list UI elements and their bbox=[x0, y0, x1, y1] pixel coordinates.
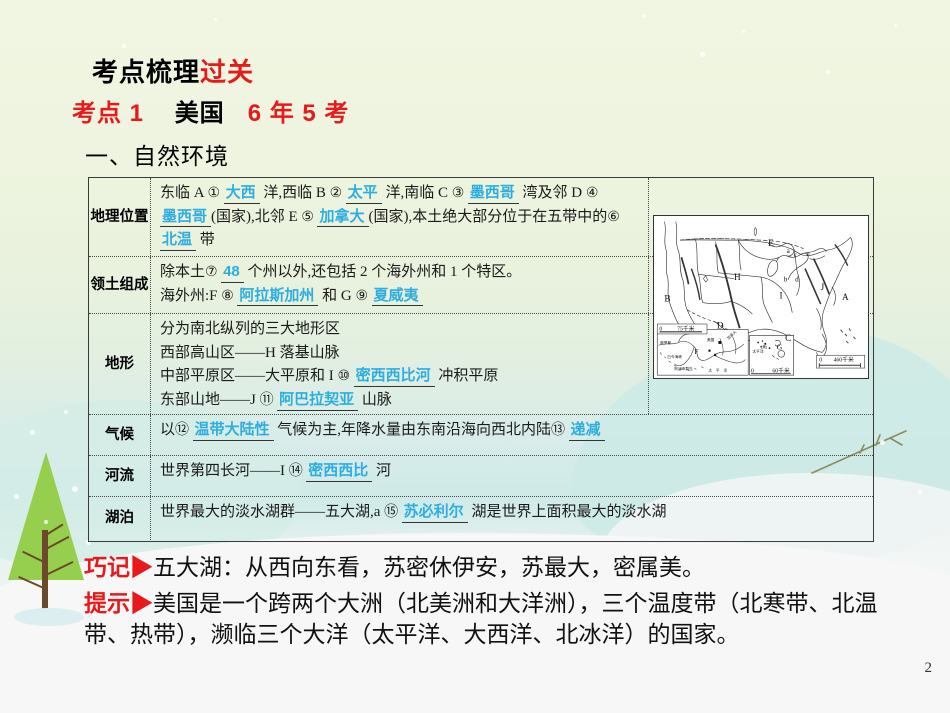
answer-fill: 阿拉斯加州 bbox=[239, 287, 314, 304]
snow-speck bbox=[44, 520, 48, 524]
table-text: 气候为主,年降水量由东南沿海向西北内陆 bbox=[274, 422, 552, 438]
answer-fill: 苏必利尔 bbox=[404, 503, 464, 520]
table-row: 河流世界第四长河——I ⑭ 密西西比 河 bbox=[89, 455, 873, 496]
table-text: 和 G bbox=[318, 288, 355, 304]
map-scale-main: 0 460千米 bbox=[816, 355, 864, 368]
blank-number: ⑦ bbox=[205, 265, 221, 280]
tip-tag: 提示▶ bbox=[84, 590, 153, 616]
blank-number: ⑧ bbox=[221, 289, 237, 304]
snow-speck bbox=[214, 18, 217, 21]
table-text: 带 bbox=[196, 232, 215, 248]
table-text: 个州以外,还包括 2 个海外州和 1 个特区。 bbox=[244, 264, 522, 280]
svg-text:c: c bbox=[794, 251, 797, 259]
answer-fill: 夏威夷 bbox=[374, 287, 419, 304]
svg-text:C: C bbox=[785, 333, 791, 343]
svg-text:b: b bbox=[784, 275, 788, 283]
table-text: 中部平原区——大平原和 I bbox=[160, 368, 338, 384]
subsection-title: 一、自然环境 bbox=[85, 137, 229, 171]
answer-fill: 北温 bbox=[162, 231, 192, 248]
table-text: 分为南北纵列的三大地形区 bbox=[160, 321, 340, 337]
section-title-kaodian: 考点 1 bbox=[72, 100, 144, 127]
svg-text:G: G bbox=[777, 343, 783, 352]
answer-fill: 墨西哥 bbox=[470, 184, 515, 201]
table-text: 山脉 bbox=[358, 392, 392, 408]
table-text: (国家),北邻 E bbox=[211, 209, 301, 225]
svg-text:(美): (美) bbox=[761, 344, 767, 349]
svg-text:D: D bbox=[717, 320, 724, 330]
table-row-content: 世界最大的淡水湖群——五大湖,a ⑮ 苏必利尔 湖是世界上面积最大的淡水湖 bbox=[151, 497, 873, 540]
table-text: 湾及邻 D bbox=[519, 185, 586, 201]
table-text: 河 bbox=[372, 463, 391, 479]
snow-speck bbox=[742, 30, 745, 33]
table-text: 冲积平原 bbox=[435, 368, 499, 384]
mnemonic-tag: 巧记▶ bbox=[84, 554, 153, 580]
section-title: 考点 1 美国 6 年 5 考 bbox=[72, 93, 349, 128]
blank-number: ⑮ bbox=[384, 505, 402, 520]
answer-fill: 墨西哥 bbox=[162, 208, 207, 225]
svg-text:太平洋: 太平洋 bbox=[752, 348, 763, 353]
svg-text:美国: 美国 bbox=[707, 337, 715, 342]
svg-text:I: I bbox=[779, 290, 782, 300]
blank-number: ⑪ bbox=[260, 393, 278, 408]
answer-fill: 太平 bbox=[348, 184, 378, 201]
map-scale-alaska: 0 75千米 bbox=[657, 324, 707, 334]
table-text: 以 bbox=[160, 422, 175, 438]
answer-fill: 密西西比 bbox=[308, 462, 368, 479]
section-title-frequency: 6 年 5 考 bbox=[248, 100, 350, 127]
page-number: 2 bbox=[925, 660, 933, 677]
svg-text:F: F bbox=[694, 347, 699, 356]
answer-fill: 大西 bbox=[226, 184, 256, 201]
table-row: 气候以⑫ 温带大陆性 气候为主,年降水量由东南沿海向西北内陆⑬ 递减 bbox=[89, 414, 873, 455]
mnemonic-note: 巧记▶五大湖：从西向东看，苏密休伊安，苏最大，密属美。 bbox=[84, 552, 924, 583]
table-text: 海外州:F bbox=[160, 288, 221, 304]
blank-number: ⑬ bbox=[551, 423, 569, 438]
table-text: 东临 A bbox=[160, 185, 208, 201]
snow-speck bbox=[918, 490, 922, 494]
map-inset-alaska: F 白令海峡 阿留申群岛 太 平 洋 俄罗斯 美国 加拿大 bbox=[657, 329, 748, 375]
svg-text:H: H bbox=[734, 272, 741, 282]
snow-speck bbox=[14, 494, 19, 499]
table-row-label: 湖泊 bbox=[89, 497, 151, 540]
snow-speck bbox=[894, 24, 897, 27]
table-row-content: 东临 A ① 大西 洋,西临 B ② 太平 洋,南临 C ③ 墨西哥 湾及邻 D… bbox=[151, 178, 649, 256]
answer-fill: 温带大陆性 bbox=[195, 421, 270, 438]
answer-fill: 阿巴拉契亚 bbox=[279, 391, 354, 408]
blank-number: ③ bbox=[452, 186, 468, 201]
usa-map: 0 460千米 F 白令海峡 阿留申群岛 太 平 洋 俄罗斯 美国 加拿大 0 … bbox=[653, 215, 869, 379]
svg-text:d: d bbox=[795, 275, 799, 283]
svg-text:E: E bbox=[768, 238, 774, 248]
blank-number: ⑥ bbox=[607, 210, 620, 225]
blank-number: ⑫ bbox=[175, 423, 193, 438]
answer-fill: 密西西比河 bbox=[356, 367, 431, 384]
svg-text:B: B bbox=[664, 293, 670, 303]
snow-speck bbox=[642, 14, 646, 18]
table-row-label: 地形 bbox=[89, 314, 151, 414]
table-text: 湖是世界上面积最大的淡水湖 bbox=[468, 504, 667, 520]
blank-number: ⑤ bbox=[301, 210, 317, 225]
table-text: 世界第四长河——I bbox=[160, 463, 289, 479]
page-title: 考点梳理过关 bbox=[92, 52, 254, 89]
table-text: 西部高山区——H 落基山脉 bbox=[160, 345, 340, 361]
tip-text: 美国是一个跨两个大洲（北美洲和大洋洲），三个温度带（北寒带、北温带、热带），濒临… bbox=[84, 590, 878, 647]
table-row-label: 领土组成 bbox=[89, 257, 151, 313]
answer-fill: 48 bbox=[223, 263, 240, 280]
snow-speck bbox=[72, 486, 78, 492]
snow-speck bbox=[122, 44, 126, 48]
table-text: 洋,西临 B bbox=[260, 185, 330, 201]
page-title-black: 考点梳理 bbox=[92, 57, 200, 87]
usa-map-cell: 0 460千米 F 白令海峡 阿留申群岛 太 平 洋 俄罗斯 美国 加拿大 0 … bbox=[649, 178, 873, 416]
section-title-country: 美国 bbox=[175, 100, 225, 127]
table-row: 湖泊世界最大的淡水湖群——五大湖,a ⑮ 苏必利尔 湖是世界上面积最大的淡水湖 bbox=[89, 496, 873, 540]
blank-number: ④ bbox=[586, 186, 599, 201]
tree-snow-mound bbox=[14, 608, 84, 626]
table-text: 除本土 bbox=[160, 264, 205, 280]
blank-number: ⑨ bbox=[355, 289, 371, 304]
answer-fill: 加拿大 bbox=[319, 208, 364, 225]
svg-text:阿留申群岛: 阿留申群岛 bbox=[674, 366, 693, 371]
table-row-content: 以⑫ 温带大陆性 气候为主,年降水量由东南沿海向西北内陆⑬ 递减 bbox=[151, 415, 873, 455]
table-text: 洋,南临 C bbox=[382, 185, 452, 201]
table-row-label: 气候 bbox=[89, 415, 151, 455]
svg-text:e: e bbox=[806, 250, 809, 258]
knowledge-table: 地理位置东临 A ① 大西 洋,西临 B ② 太平 洋,南临 C ③ 墨西哥 湾… bbox=[88, 177, 874, 542]
snow-speck bbox=[880, 440, 885, 445]
table-row-content: 世界第四长河——I ⑭ 密西西比 河 bbox=[151, 456, 873, 496]
table-text: 东部山地——J bbox=[160, 392, 260, 408]
table-row-label: 河流 bbox=[89, 456, 151, 496]
snow-speck bbox=[64, 410, 68, 414]
blank-number: ⑭ bbox=[289, 464, 307, 479]
svg-text:俄罗斯: 俄罗斯 bbox=[660, 340, 671, 345]
mnemonic-text: 五大湖：从西向东看，苏密休伊安，苏最大，密属美。 bbox=[153, 554, 705, 580]
svg-text:太 平 洋: 太 平 洋 bbox=[708, 368, 728, 373]
page-title-red: 过关 bbox=[200, 57, 254, 87]
table-text: (国家),本土绝大部分位于在五带中的 bbox=[369, 209, 608, 225]
svg-text:0: 0 bbox=[819, 358, 822, 364]
snow-speck bbox=[700, 52, 705, 57]
tip-note: 提示▶美国是一个跨两个大洲（北美洲和大洋洲），三个温度带（北寒带、北温带、热带）… bbox=[84, 588, 914, 650]
blank-number: ⑩ bbox=[338, 369, 354, 384]
svg-text:白令海峡: 白令海峡 bbox=[667, 354, 682, 359]
table-row-content: 分为南北纵列的三大地形区西部高山区——H 落基山脉中部平原区——大平原和 I ⑩… bbox=[151, 314, 649, 414]
table-row-content: 除本土⑦ 48 个州以外,还包括 2 个海外州和 1 个特区。海外州:F ⑧ 阿… bbox=[151, 257, 649, 313]
blank-number: ② bbox=[330, 186, 346, 201]
snow-speck bbox=[30, 430, 35, 435]
snow-speck bbox=[826, 70, 830, 74]
table-row-label: 地理位置 bbox=[89, 178, 151, 256]
answer-fill: 递减 bbox=[571, 421, 601, 438]
blank-number: ① bbox=[208, 186, 224, 201]
svg-text:A: A bbox=[842, 292, 849, 302]
svg-text:J: J bbox=[821, 282, 825, 292]
table-text: 世界最大的淡水湖群——五大湖,a bbox=[160, 504, 384, 520]
